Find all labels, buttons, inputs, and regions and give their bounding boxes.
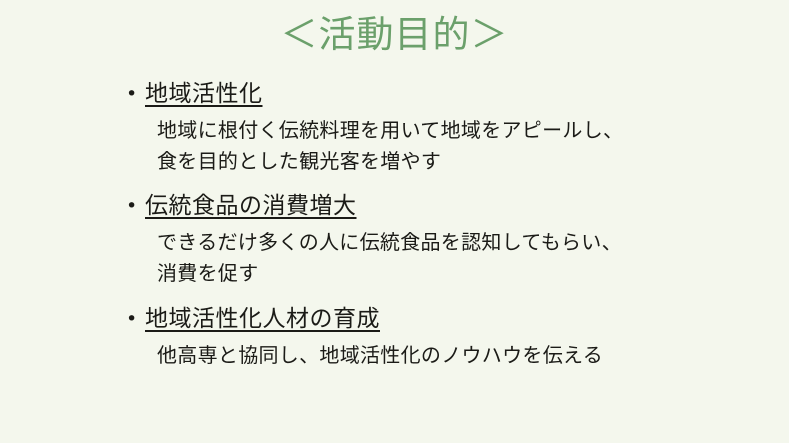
detail-line: 地域に根付く伝統料理を用いて地域をアピールし、 (157, 115, 746, 146)
bullet-heading-row: • 地域活性化 (126, 79, 746, 109)
bullet-detail: 地域に根付く伝統料理を用いて地域をアピールし、 食を目的とした観光客を増やす (157, 115, 746, 177)
page-title: ＜活動目的＞ (0, 14, 789, 57)
detail-line: 他高専と協同し、地域活性化のノウハウを伝える (157, 340, 746, 371)
bullet-heading: 伝統食品の消費増大 (145, 191, 357, 221)
presentation-slide: ＜活動目的＞ • 地域活性化 地域に根付く伝統料理を用いて地域をアピールし、 食… (0, 0, 789, 443)
detail-line: 消費を促す (157, 258, 746, 289)
objectives-list: • 地域活性化 地域に根付く伝統料理を用いて地域をアピールし、 食を目的とした観… (126, 79, 746, 371)
bullet-detail: できるだけ多くの人に伝統食品を認知してもらい、 消費を促す (157, 227, 746, 289)
bullet-heading-row: • 伝統食品の消費増大 (126, 191, 746, 221)
bullet-point-icon: • (126, 304, 145, 334)
bullet-heading-row: • 地域活性化人材の育成 (126, 304, 746, 334)
bullet-detail: 他高専と協同し、地域活性化のノウハウを伝える (157, 340, 746, 371)
detail-line: 食を目的とした観光客を増やす (157, 146, 746, 177)
bullet-heading: 地域活性化人材の育成 (145, 304, 380, 334)
list-item: • 地域活性化 地域に根付く伝統料理を用いて地域をアピールし、 食を目的とした観… (126, 79, 746, 177)
bullet-point-icon: • (126, 191, 145, 221)
detail-line: できるだけ多くの人に伝統食品を認知してもらい、 (157, 227, 746, 258)
bullet-heading: 地域活性化 (145, 79, 263, 109)
list-item: • 地域活性化人材の育成 他高専と協同し、地域活性化のノウハウを伝える (126, 304, 746, 371)
bullet-point-icon: • (126, 79, 145, 109)
list-item: • 伝統食品の消費増大 できるだけ多くの人に伝統食品を認知してもらい、 消費を促… (126, 191, 746, 289)
